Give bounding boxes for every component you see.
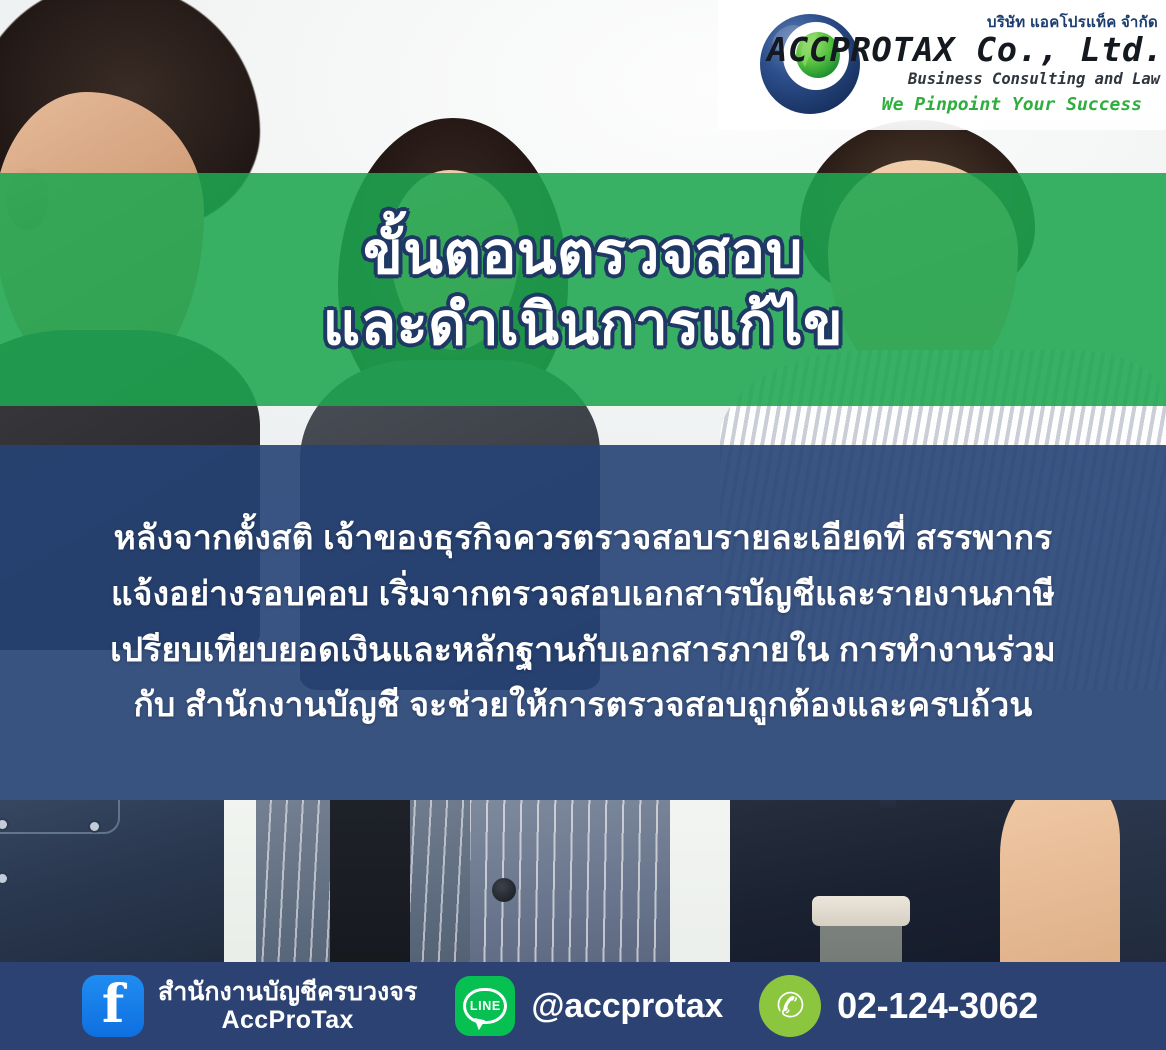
logo-tagline: We Pinpoint Your Success <box>882 94 1142 115</box>
telephone-number: 02-124-3062 <box>837 985 1038 1027</box>
promotional-poster: บริษัท แอคโปรแท็ค จำกัด ACCPROTAX Co., L… <box>0 0 1166 1050</box>
body-line-2: แจ้งอย่างรอบคอบ เริ่มจากตรวจสอบเอกสารบัญ… <box>111 571 1055 619</box>
line-handle: @accprotax <box>531 987 723 1026</box>
jeans-rivet <box>90 822 99 831</box>
telephone-contact[interactable]: ✆ 02-124-3062 <box>723 962 1038 1050</box>
title-line-1: ขั้นตอนตรวจสอบ <box>363 220 803 288</box>
facebook-label-line-2: AccProTax <box>158 1006 417 1034</box>
phone-icon[interactable]: ✆ <box>759 975 821 1037</box>
line-contact[interactable]: LINE @accprotax <box>417 962 723 1050</box>
belt-loop <box>880 800 896 810</box>
facebook-contact[interactable]: สำนักงานบัญชีครบวงจร AccProTax <box>0 962 417 1050</box>
bottom-photo <box>0 800 1166 966</box>
body-line-1: หลังจากตั้งสติ เจ้าของธุรกิจควรตรวจสอบรา… <box>114 515 1053 563</box>
phone-glyph: ✆ <box>774 987 807 1025</box>
apron-dark-panel <box>330 800 410 966</box>
contact-footer-bar: สำนักงานบัญชีครบวงจร AccProTax LINE @acc… <box>0 962 1166 1050</box>
apron-button <box>492 878 516 902</box>
line-icon-word: LINE <box>470 1000 501 1013</box>
facebook-label-line-1: สำนักงานบัญชีครบวงจร <box>158 978 417 1006</box>
body-band: หลังจากตั้งสติ เจ้าของธุรกิจควรตรวจสอบรา… <box>0 445 1166 800</box>
facebook-icon[interactable] <box>82 975 144 1037</box>
line-bubble-shape: LINE <box>463 988 507 1024</box>
line-icon[interactable]: LINE <box>455 976 515 1036</box>
body-line-4: กับ สำนักงานบัญชี จะช่วยให้การตรวจสอบถูก… <box>134 682 1033 730</box>
jeans-rivet <box>0 874 7 883</box>
brand-logo-panel: บริษัท แอคโปรแท็ค จำกัด ACCPROTAX Co., L… <box>718 0 1166 130</box>
title-band: ขั้นตอนตรวจสอบ และดำเนินการแก้ไข <box>0 173 1166 406</box>
body-line-3: เปรียบเทียบยอดเงินและหลักฐานกับเอกสารภาย… <box>110 627 1056 675</box>
coffee-cup-lid <box>812 896 910 926</box>
jeans-left <box>0 800 224 966</box>
logo-subtitle: Business Consulting and Law <box>908 70 1160 88</box>
facebook-label: สำนักงานบัญชีครบวงจร AccProTax <box>158 978 417 1034</box>
person-right-arm <box>1000 800 1120 966</box>
title-line-2: และดำเนินการแก้ไข <box>323 291 844 359</box>
logo-text-block: บริษัท แอคโปรแท็ค จำกัด ACCPROTAX Co., L… <box>870 10 1160 122</box>
jeans-pocket <box>0 800 120 834</box>
logo-company-name: ACCPROTAX Co., Ltd. <box>767 30 1164 69</box>
